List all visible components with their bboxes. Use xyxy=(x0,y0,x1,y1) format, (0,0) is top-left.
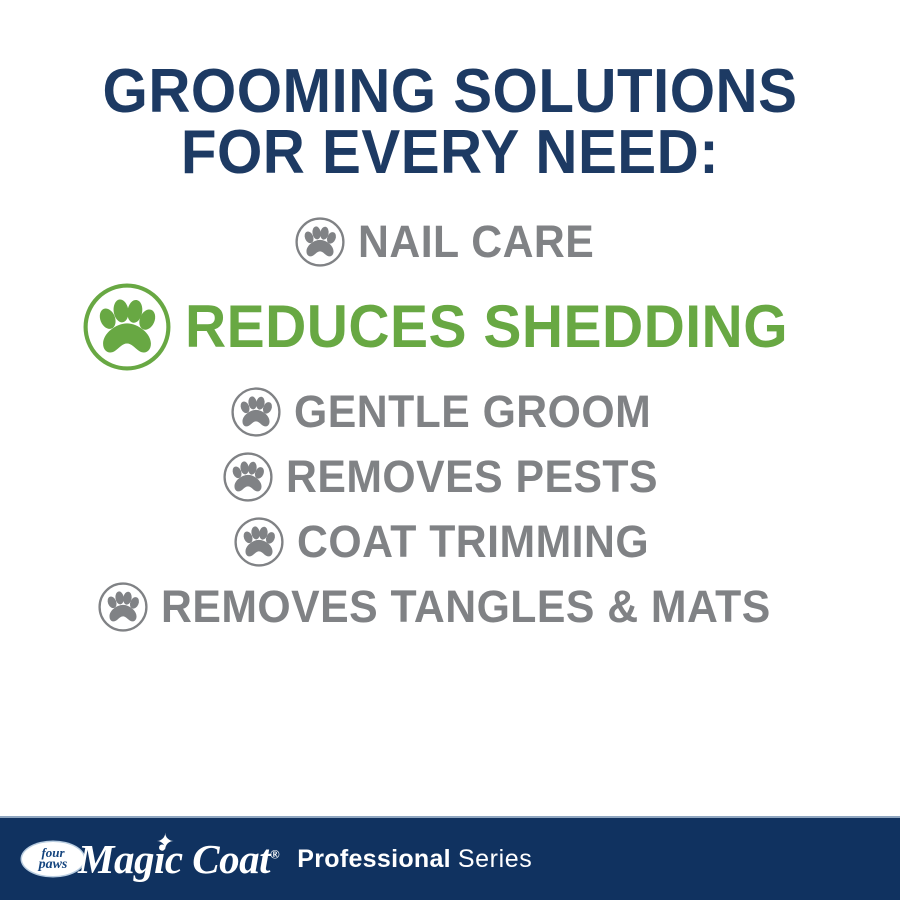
paw-in-circle-icon xyxy=(97,581,149,633)
paw-in-circle-icon xyxy=(81,281,173,373)
headline-line-2: FOR EVERY NEED: xyxy=(55,123,845,184)
paw-in-circle-icon xyxy=(294,216,346,268)
benefit-label: REMOVES TANGLES & MATS xyxy=(161,584,771,629)
magic-coat-text: Magic Coat xyxy=(78,836,270,882)
registered-trademark-icon: ® xyxy=(270,846,279,861)
brand-logo-lockup: four paws ✦ Magic Coat® Professional Ser… xyxy=(22,839,532,880)
benefit-item-gentle-groom: GENTLE GROOM xyxy=(230,386,670,438)
paw-in-circle-icon xyxy=(233,516,285,568)
benefit-item-reduces-shedding: REDUCES SHEDDING xyxy=(81,281,820,373)
benefit-item-removes-pests: REMOVES PESTS xyxy=(222,451,678,503)
brand-banner: four paws ✦ Magic Coat® Professional Ser… xyxy=(0,816,900,900)
promo-poster: GROOMING SOLUTIONS FOR EVERY NEED: NAIL … xyxy=(0,0,900,900)
magic-coat-wordmark: ✦ Magic Coat® xyxy=(78,839,283,880)
benefit-label: REMOVES PESTS xyxy=(286,454,658,499)
benefit-item-coat-trimming: COAT TRIMMING xyxy=(233,516,668,568)
sparkle-icon: ✦ xyxy=(156,832,174,854)
benefit-label: NAIL CARE xyxy=(358,219,594,264)
benefit-label: COAT TRIMMING xyxy=(297,519,649,564)
headline-line-1: GROOMING SOLUTIONS xyxy=(55,62,845,123)
four-paws-line-2: paws xyxy=(39,859,68,872)
benefit-list: NAIL CARE REDUCES SHEDDING xyxy=(0,184,900,817)
paw-in-circle-icon xyxy=(230,386,282,438)
benefit-item-removes-tangles-and-mats: REMOVES TANGLES & MATS xyxy=(97,581,803,633)
series-label: Series xyxy=(458,845,532,873)
four-paws-logo-icon: four paws xyxy=(22,842,84,876)
page-title: GROOMING SOLUTIONS FOR EVERY NEED: xyxy=(27,0,873,184)
benefit-item-nail-care: NAIL CARE xyxy=(294,216,607,268)
paw-in-circle-icon xyxy=(222,451,274,503)
benefit-label: REDUCES SHEDDING xyxy=(185,297,788,357)
benefit-label: GENTLE GROOM xyxy=(294,389,651,434)
professional-label: Professional xyxy=(297,845,451,873)
professional-series-tagline: Professional Series xyxy=(297,847,532,872)
